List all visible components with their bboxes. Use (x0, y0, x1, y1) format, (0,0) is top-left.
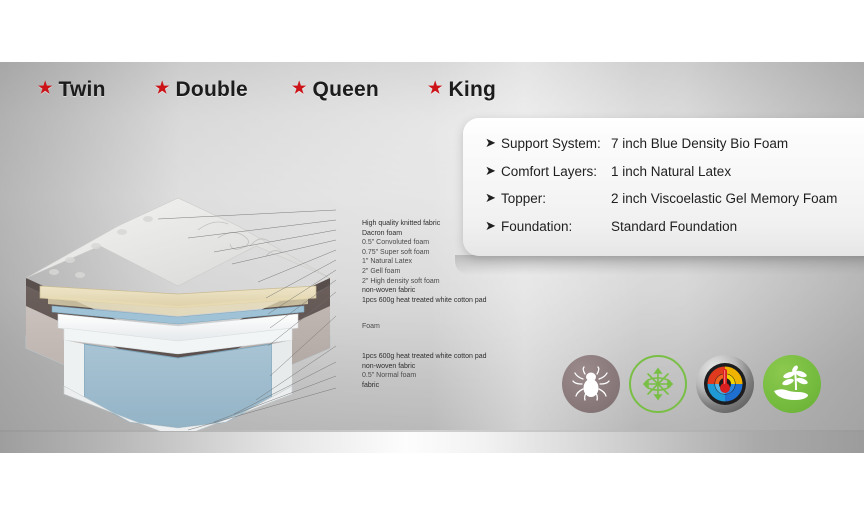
spec-panel: ➤ Support System: 7 inch Blue Density Bi… (463, 118, 864, 256)
dust-mite-badge[interactable] (562, 355, 620, 413)
arrow-bullet-icon: ➤ (485, 164, 501, 177)
spec-panel-shadow (455, 255, 864, 275)
spec-row-topper: ➤ Topper: 2 inch Viscoelastic Gel Memory… (485, 191, 864, 219)
arrow-bullet-icon: ➤ (485, 219, 501, 232)
star-icon: ★ (155, 81, 170, 97)
spec-value: 7 inch Blue Density Bio Foam (611, 136, 788, 151)
size-option-queen[interactable]: ★ Queen (292, 78, 379, 102)
floor-highlight-strip (0, 432, 864, 453)
arrow-bullet-icon: ➤ (485, 136, 501, 149)
arrow-bullet-icon: ➤ (485, 191, 501, 204)
layer-label: 1pcs 600g heat treated white cotton pad (362, 296, 512, 306)
spec-row-foundation: ➤ Foundation: Standard Foundation (485, 219, 864, 247)
spec-value: Standard Foundation (611, 219, 737, 234)
feature-badges (562, 352, 822, 416)
mattress-cutaway-illustration (18, 186, 338, 431)
mattress-cutaway-svg (18, 186, 338, 431)
mattress-quilted-top (26, 198, 330, 286)
eco-leaf-hand-icon (770, 362, 814, 406)
star-icon: ★ (428, 81, 443, 97)
size-option-twin[interactable]: ★ Twin (38, 78, 106, 102)
star-icon: ★ (38, 81, 53, 97)
spec-key: Topper: (501, 191, 611, 206)
size-option-label: Double (176, 78, 248, 102)
layer-label: 0.5" Normal foam (362, 371, 522, 381)
dust-mite-icon (571, 364, 611, 404)
layer-label: fabric (362, 381, 522, 391)
layer-label: non-woven fabric (362, 362, 522, 372)
size-option-label: Queen (313, 78, 379, 102)
size-option-king[interactable]: ★ King (428, 78, 496, 102)
layer-label: 2" High density soft foam (362, 277, 512, 287)
temperature-icon (699, 358, 751, 410)
spec-key: Foundation: (501, 219, 611, 234)
spec-panel-content: ➤ Support System: 7 inch Blue Density Bi… (463, 128, 864, 256)
anti-bacterial-icon (637, 363, 679, 405)
size-option-label: King (449, 78, 496, 102)
spec-row-support-system: ➤ Support System: 7 inch Blue Density Bi… (485, 136, 864, 164)
spec-value: 2 inch Viscoelastic Gel Memory Foam (611, 191, 837, 206)
diagram-core-label: Foam (362, 322, 512, 332)
spec-key: Comfort Layers: (501, 164, 611, 179)
product-banner: ★ Twin ★ Double ★ Queen ★ King (0, 0, 864, 518)
layer-label: 1pcs 600g heat treated white cotton pad (362, 352, 522, 362)
size-option-double[interactable]: ★ Double (155, 78, 248, 102)
size-selector-nav: ★ Twin ★ Double ★ Queen ★ King (0, 74, 560, 114)
spec-key: Support System: (501, 136, 611, 151)
layer-label: Foam (362, 322, 512, 332)
diagram-bottom-labels: 1pcs 600g heat treated white cotton pad … (362, 352, 522, 390)
layer-label: non-woven fabric (362, 286, 512, 296)
spec-value: 1 inch Natural Latex (611, 164, 731, 179)
star-icon: ★ (292, 81, 307, 97)
size-option-label: Twin (59, 78, 106, 102)
temperature-regulating-badge[interactable] (696, 355, 754, 413)
spec-row-comfort-layers: ➤ Comfort Layers: 1 inch Natural Latex (485, 164, 864, 192)
anti-bacterial-badge[interactable] (629, 355, 687, 413)
eco-friendly-badge[interactable] (763, 355, 821, 413)
